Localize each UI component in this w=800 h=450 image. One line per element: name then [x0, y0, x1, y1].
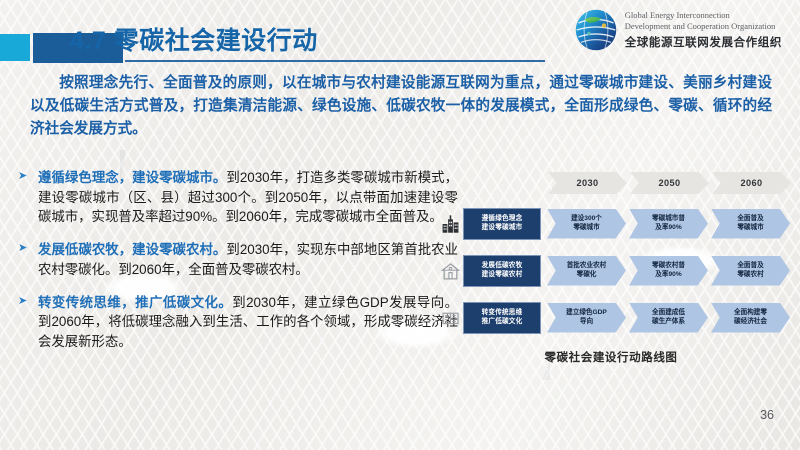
arrow-bullet-icon: ➤	[18, 243, 27, 254]
roadmap-label-line2: 建设零碳农村	[482, 271, 523, 280]
bullet-lead-text: 遵循绿色理念，建设零碳城市。	[38, 170, 226, 185]
roadmap-step: 首批农业农村 零碳化	[547, 256, 626, 286]
header-accent-cyan	[0, 34, 30, 61]
intro-paragraph: 按照理念先行、全面普及的原则，以在城市与农村建设能源互联网为重点，通过零碳城市建…	[30, 72, 772, 141]
roadmap-step: 全面普及 零碳农村	[711, 256, 790, 286]
arrow-bullet-icon: ➤	[18, 171, 27, 182]
roadmap-row: 转变传统思维 推广低碳文化 建立绿色GDP 导向 全面建成低 碳生产体系 全面构…	[440, 298, 788, 337]
step-line2: 碳生产体系	[652, 318, 685, 327]
step-line1: 建立绿色GDP	[566, 309, 607, 318]
step-line1: 零碳城市普	[652, 215, 685, 224]
step-line1: 全面普及	[737, 215, 763, 224]
step-line2: 零碳农村	[737, 271, 763, 280]
roadmap-label-line2: 推广低碳文化	[482, 318, 523, 327]
step-line1: 全面构建零	[734, 309, 767, 318]
step-line1: 全面建成低	[652, 309, 685, 318]
page-number: 36	[760, 408, 774, 422]
list-item: ➤ 转变传统思维，推广低碳文化。到2030年，建立绿色GDP发展导向。到2060…	[18, 293, 458, 352]
roadmap-label-line1: 遵循绿色理念	[482, 215, 523, 224]
roadmap-year-header: 2030 2050 2060	[548, 172, 788, 196]
roadmap-row-label: 遵循绿色理念 建设零碳城市	[463, 208, 541, 240]
bullet-text: 发展低碳农牧，建设零碳农村。到2030年，实现东中部地区第首批农业农村零碳化。到…	[38, 240, 458, 279]
page-title: 4.7 零碳社会建设行动	[70, 21, 318, 57]
step-line1: 首批农业农村	[567, 262, 607, 271]
roadmap-caption: 零碳社会建设行动路线图	[476, 349, 746, 365]
roadmap-row: 发展低碳农牧 建设零碳农村 首批农业农村 零碳化 零碳农村普 及率90% 全面普…	[440, 251, 788, 290]
roadmap-step: 全面构建零 碳经济社会	[711, 303, 790, 333]
logo-text-block: Global Energy Interconnection Developmen…	[625, 10, 782, 49]
bullet-text: 转变传统思维，推广低碳文化。到2030年，建立绿色GDP发展导向。到2060年，…	[38, 293, 458, 352]
step-line2: 碳经济社会	[734, 318, 767, 327]
organization-logo: Global Energy Interconnection Developmen…	[574, 8, 782, 52]
roadmap-step: 零碳农村普 及率90%	[629, 256, 708, 286]
bullet-text: 遵循绿色理念，建设零碳城市。到2030年，打造多类零碳城市新模式，建设零碳城市（…	[38, 168, 458, 227]
roadmap-step: 全面普及 零碳城市	[711, 209, 790, 239]
bullet-list: ➤ 遵循绿色理念，建设零碳城市。到2030年，打造多类零碳城市新模式，建设零碳城…	[18, 168, 458, 365]
roadmap-label-line1: 发展低碳农牧	[482, 262, 523, 271]
roadmap-label-line1: 转变传统思维	[482, 309, 523, 318]
year-label-2060: 2060	[712, 172, 791, 194]
step-line1: 零碳农村普	[652, 262, 685, 271]
slide-canvas: 4.7 零碳社会建设行动	[0, 0, 800, 450]
logo-en-line2: Development and Cooperation Organization	[625, 21, 782, 32]
open-book-icon	[440, 305, 460, 331]
arrow-bullet-icon: ➤	[18, 296, 27, 307]
roadmap-diagram: 2030 2050 2060	[440, 172, 788, 365]
roadmap-row-label: 转变传统思维 推广低碳文化	[463, 302, 541, 334]
roadmap-step: 建立绿色GDP 导向	[547, 303, 626, 333]
roadmap-step-group: 建立绿色GDP 导向 全面建成低 碳生产体系 全面构建零 碳经济社会	[547, 303, 788, 333]
logo-en-line1: Global Energy Interconnection	[625, 10, 782, 21]
farm-house-icon	[440, 258, 460, 284]
logo-cn-name: 全球能源互联网发展合作组织	[625, 34, 782, 50]
roadmap-step-group: 首批农业农村 零碳化 零碳农村普 及率90% 全面普及 零碳农村	[547, 256, 788, 286]
bullet-lead-text: 发展低碳农牧，建设零碳农村。	[38, 242, 226, 257]
roadmap-step: 建设300个 零碳城市	[547, 209, 626, 239]
step-line2: 及率90%	[655, 224, 681, 233]
list-item: ➤ 发展低碳农牧，建设零碳农村。到2030年，实现东中部地区第首批农业农村零碳化…	[18, 240, 458, 279]
roadmap-step-group: 建设300个 零碳城市 零碳城市普 及率90% 全面普及 零碳城市	[547, 209, 788, 239]
step-line1: 建设300个	[571, 215, 602, 224]
step-line2: 零碳化	[577, 271, 597, 280]
step-line2: 零碳城市	[573, 224, 599, 233]
bullet-lead-text: 转变传统思维，推广低碳文化。	[38, 295, 232, 310]
year-label-2050: 2050	[630, 172, 709, 194]
step-line2: 零碳城市	[737, 224, 763, 233]
globe-icon	[574, 8, 618, 52]
roadmap-row: 遵循绿色理念 建设零碳城市 建设300个 零碳城市 零碳城市普 及率90% 全面…	[440, 204, 788, 243]
step-line2: 导向	[580, 318, 593, 327]
roadmap-step: 零碳城市普 及率90%	[629, 209, 708, 239]
roadmap-row-label: 发展低碳农牧 建设零碳农村	[463, 255, 541, 287]
roadmap-label-line2: 建设零碳城市	[482, 224, 523, 233]
year-label-2030: 2030	[548, 172, 627, 194]
roadmap-step: 全面建成低 碳生产体系	[629, 303, 708, 333]
step-line2: 及率90%	[655, 271, 681, 280]
header-divider-line	[125, 60, 545, 62]
list-item: ➤ 遵循绿色理念，建设零碳城市。到2030年，打造多类零碳城市新模式，建设零碳城…	[18, 168, 458, 227]
step-line1: 全面普及	[737, 262, 763, 271]
city-buildings-icon	[440, 211, 460, 237]
